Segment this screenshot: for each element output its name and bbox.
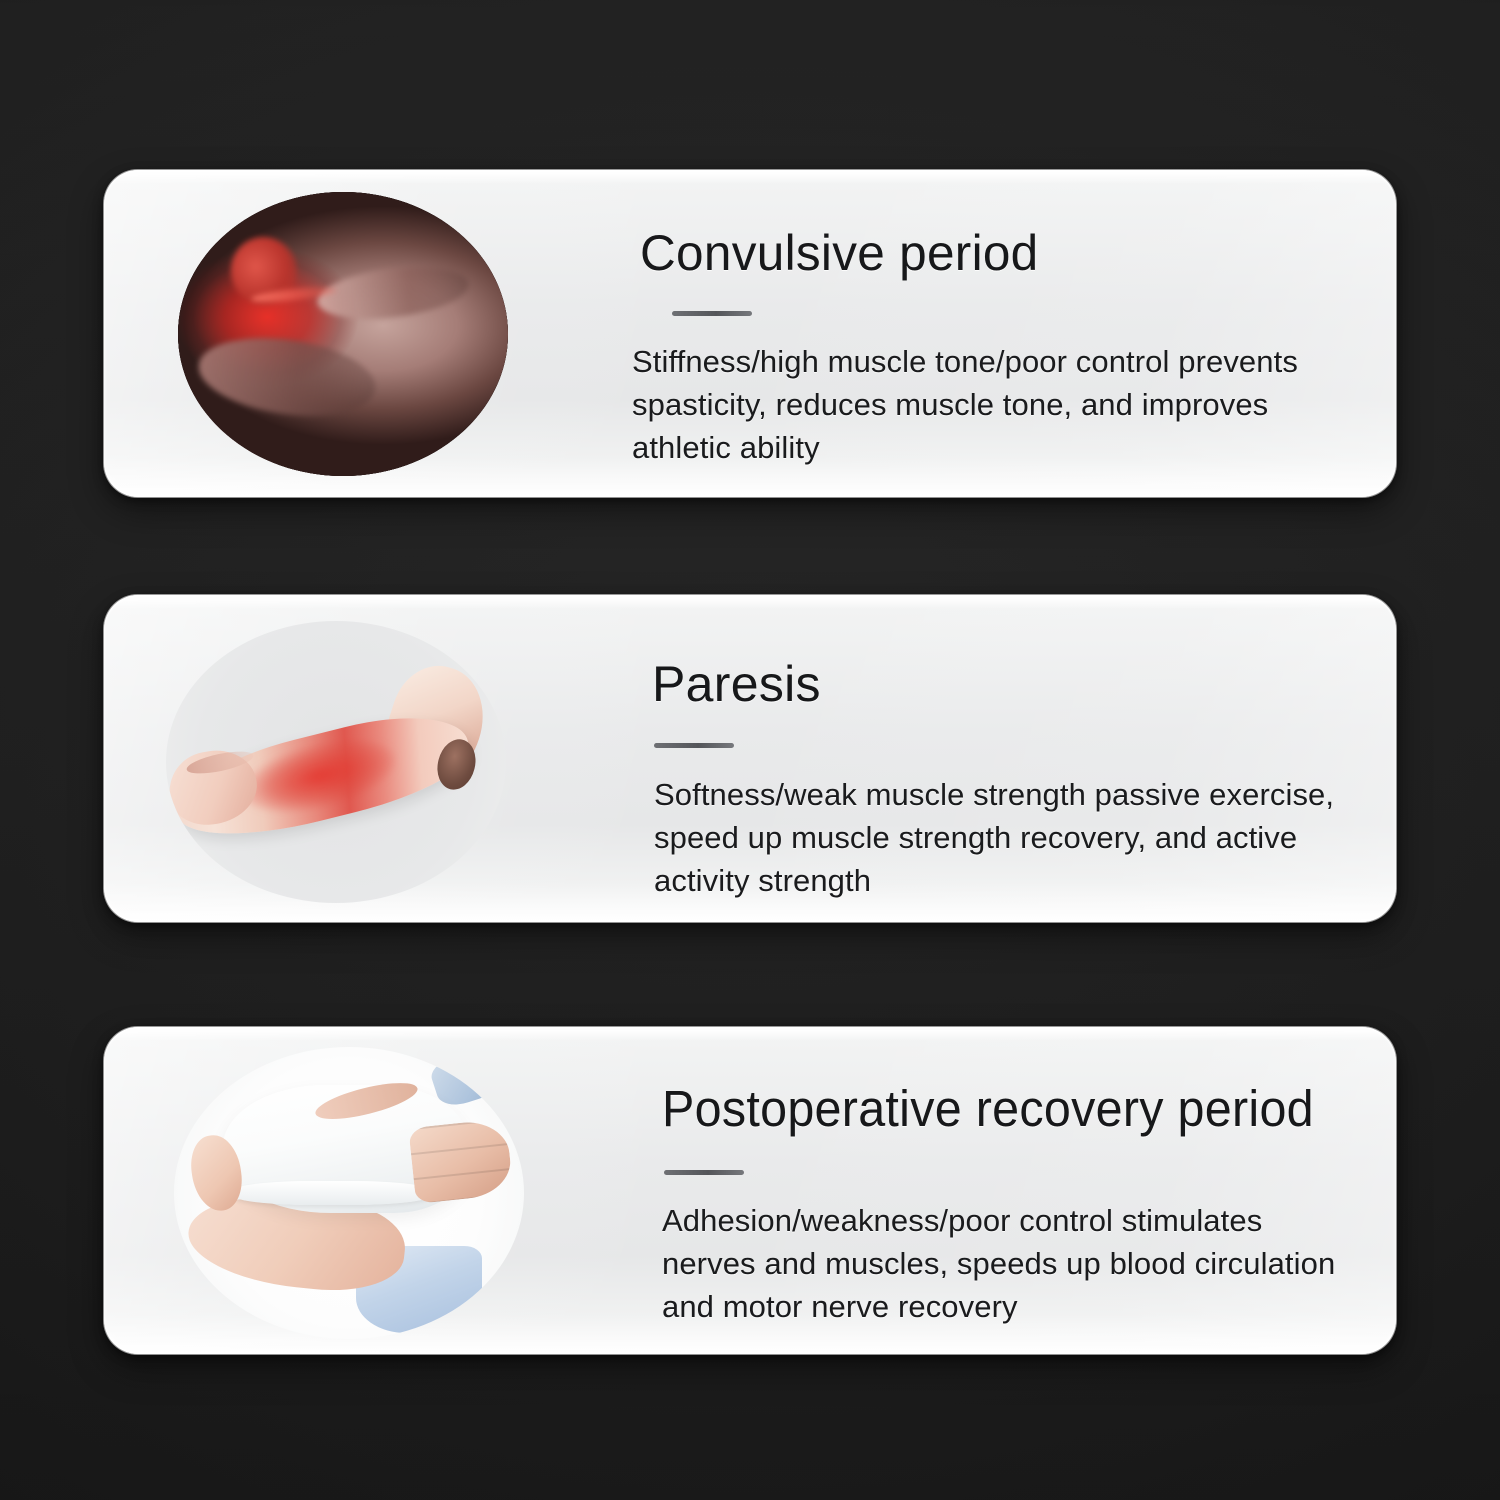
title-divider-rule <box>664 1170 744 1175</box>
card-image-forearm-weakness-photo <box>166 621 506 903</box>
card-description: Adhesion/weakness/poor control stimulate… <box>662 1199 1362 1328</box>
card-description: Softness/weak muscle strength passive ex… <box>654 773 1362 902</box>
card-image-bandaged-hand-photo <box>174 1047 524 1339</box>
hand-wrist-pain-illustration <box>178 192 508 476</box>
card-title: Postoperative recovery period <box>662 1079 1314 1138</box>
feature-card-list: Convulsive period Stiffness/high muscle … <box>0 0 1500 1500</box>
title-divider-rule <box>672 311 752 316</box>
card-title: Convulsive period <box>640 224 1039 282</box>
feature-card-convulsive-period[interactable]: Convulsive period Stiffness/high muscle … <box>104 170 1396 497</box>
card-content: Paresis Softness/weak muscle strength pa… <box>644 595 1362 922</box>
fingers-shape <box>408 1118 513 1204</box>
lower-hand-shape <box>194 328 381 426</box>
card-content: Convulsive period Stiffness/high muscle … <box>632 170 1362 497</box>
bandaged-hand-illustration <box>174 1047 524 1339</box>
feature-card-postoperative-recovery-period[interactable]: Postoperative recovery period Adhesion/w… <box>104 1027 1396 1354</box>
title-divider-rule <box>654 743 734 748</box>
forearm-weakness-illustration <box>166 621 506 903</box>
knuckles-shape <box>314 260 471 326</box>
card-description: Stiffness/high muscle tone/poor control … <box>632 340 1362 469</box>
card-image-hand-wrist-pain-photo <box>178 192 508 476</box>
card-content: Postoperative recovery period Adhesion/w… <box>656 1027 1362 1354</box>
bandage-strap-shape <box>234 1181 430 1204</box>
card-title: Paresis <box>652 655 821 713</box>
feature-card-paresis[interactable]: Paresis Softness/weak muscle strength pa… <box>104 595 1396 922</box>
